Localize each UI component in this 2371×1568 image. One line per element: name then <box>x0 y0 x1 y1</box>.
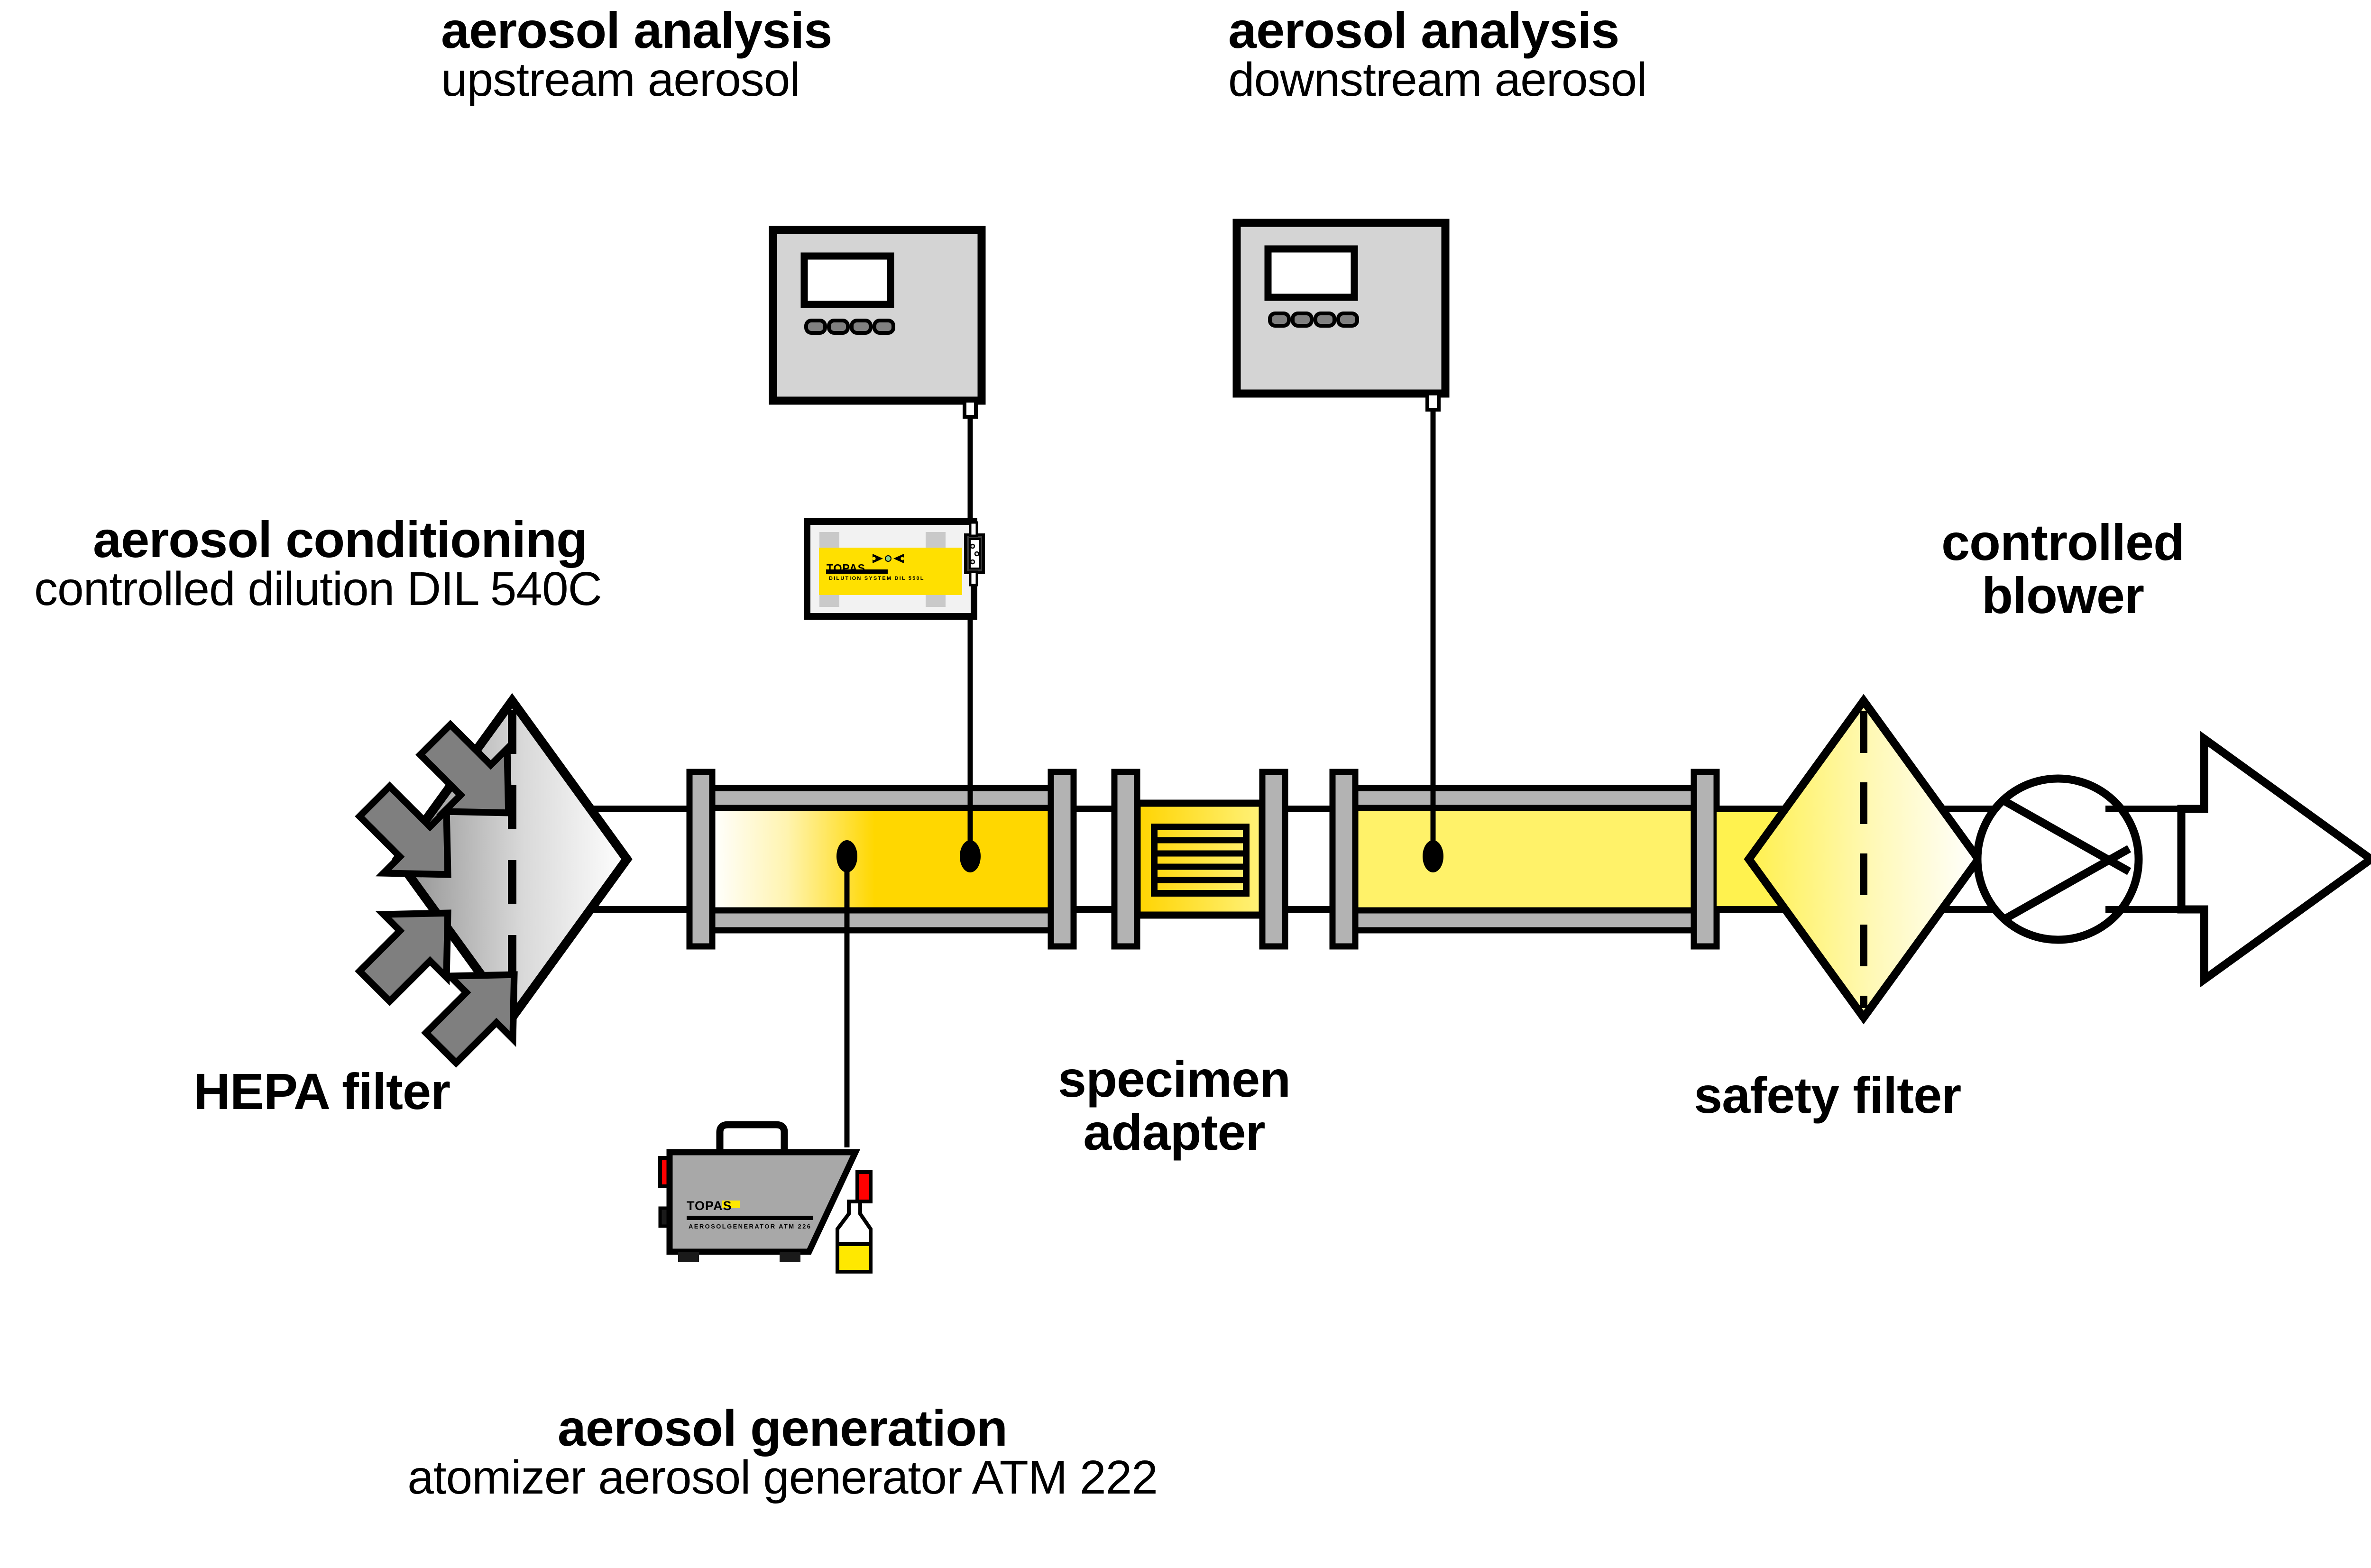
atm-brand-text: TOPAS <box>687 1199 732 1213</box>
label-conditioning-title: aerosol conditioning <box>93 511 587 569</box>
specimen-adapter <box>1114 772 1285 946</box>
pipe-adapter-to-duct2 <box>1285 809 1333 909</box>
safety-filter <box>1749 701 1978 1018</box>
label-blower-title-line1: controlled <box>1892 514 2233 571</box>
duct-upstream <box>689 772 1074 946</box>
label-upstream-analysis-sub: upstream aerosol <box>441 53 782 106</box>
analyzer-downstream[interactable] <box>1237 223 1445 410</box>
label-hepa-filter: HEPA filter <box>193 1063 450 1120</box>
label-blower-title-line2: blower <box>1892 567 2233 624</box>
label-upstream-analysis-title: aerosol analysis <box>441 2 782 59</box>
label-downstream-analysis-title: aerosol analysis <box>1228 2 1603 59</box>
label-specimen-adapter-line2: adapter <box>1032 1104 1316 1161</box>
label-generation-sub: atomizer aerosol generator ATM 222 <box>285 1451 1280 1504</box>
label-downstream-analysis-sub: downstream aerosol <box>1228 53 1603 106</box>
dil-caption-text: DILUTION SYSTEM DIL 550L <box>829 576 925 581</box>
analyzer-upstream[interactable] <box>773 230 982 417</box>
device-atm-222[interactable] <box>660 1125 871 1272</box>
duct-downstream <box>1333 772 1717 946</box>
atm-caption-text: AEROSOLGENERATOR ATM 226 <box>689 1223 811 1230</box>
outlet-arrow-icon <box>2181 739 2371 980</box>
label-safety-filter: safety filter <box>1694 1067 1961 1124</box>
diagram-canvas: aerosol analysis upstream aerosol aeroso… <box>0 0 2371 1568</box>
pipe-duct1-to-adapter <box>1074 809 1114 909</box>
schematic-svg <box>0 0 2371 1568</box>
label-conditioning-sub: controlled dilution DIL 540C <box>34 562 602 615</box>
label-specimen-adapter-line1: specimen <box>1032 1051 1316 1108</box>
label-generation-title: aerosol generation <box>285 1400 1280 1457</box>
blower <box>1977 779 2139 940</box>
dil-brand-text: TOPAS <box>827 562 865 575</box>
